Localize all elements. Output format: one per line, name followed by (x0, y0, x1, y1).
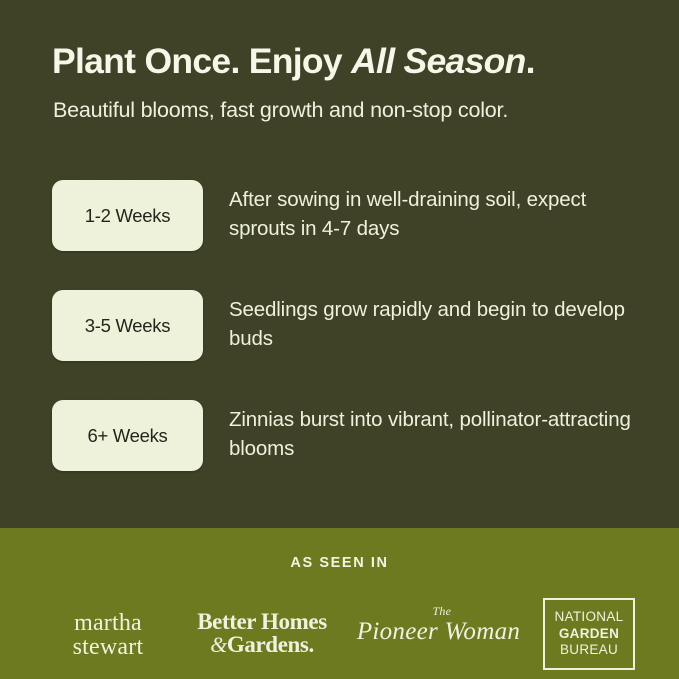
logo-bhg-ampersand: & (210, 632, 227, 657)
headline-emphasis: All Season (351, 41, 526, 81)
logo-ngb-line2: GARDEN (559, 626, 619, 643)
timeline-badge-3: 6+ Weeks (52, 400, 203, 471)
logo-martha-stewart: martha stewart (38, 612, 178, 659)
logo-ngb-line1: NATIONAL (555, 609, 624, 626)
growth-timeline: 1-2 Weeks After sowing in well-draining … (0, 180, 679, 510)
page-title: Plant Once. Enjoy All Season. (52, 42, 652, 81)
logo-bhg-line2: &Gardens. (182, 633, 342, 656)
as-seen-in-title: AS SEEN IN (0, 555, 679, 571)
timeline-badge-2: 3-5 Weeks (52, 290, 203, 361)
timeline-description-3: Zinnias burst into vibrant, pollinator-a… (229, 405, 649, 463)
timeline-row: 1-2 Weeks After sowing in well-draining … (0, 180, 679, 290)
logo-martha-stewart-line1: martha (38, 612, 178, 636)
timeline-description-1: After sowing in well-draining soil, expe… (229, 185, 649, 243)
timeline-row: 3-5 Weeks Seedlings grow rapidly and beg… (0, 290, 679, 400)
logo-national-garden-bureau: NATIONAL GARDEN BUREAU (543, 598, 635, 670)
headline-text-leading: Plant Once. Enjoy (52, 41, 351, 81)
page-subtitle: Beautiful blooms, fast growth and non-st… (53, 97, 663, 124)
timeline-badge-label: 6+ Weeks (87, 425, 167, 447)
logo-pioneer-main: Pioneer Woman (356, 619, 521, 645)
logo-better-homes-and-gardens: Better Homes &Gardens. (182, 610, 342, 656)
logo-bhg-gardens: Gardens. (227, 632, 314, 657)
hero-panel: Plant Once. Enjoy All Season. Beautiful … (0, 0, 679, 528)
as-seen-in-band: AS SEEN IN martha stewart Better Homes &… (0, 528, 679, 679)
timeline-badge-label: 1-2 Weeks (85, 205, 170, 227)
press-logo-row: martha stewart Better Homes &Gardens. Th… (0, 598, 679, 676)
timeline-row: 6+ Weeks Zinnias burst into vibrant, pol… (0, 400, 679, 510)
logo-ngb-line3: BUREAU (560, 642, 618, 659)
timeline-badge-1: 1-2 Weeks (52, 180, 203, 251)
timeline-badge-label: 3-5 Weeks (85, 315, 170, 337)
timeline-description-2: Seedlings grow rapidly and begin to deve… (229, 295, 649, 353)
logo-the-pioneer-woman: The Pioneer Woman (356, 611, 521, 645)
logo-bhg-line1: Better Homes (182, 610, 342, 633)
headline-text-trailing: . (526, 41, 535, 81)
logo-pioneer-the: The (433, 605, 452, 618)
logo-martha-stewart-line2: stewart (38, 636, 178, 660)
